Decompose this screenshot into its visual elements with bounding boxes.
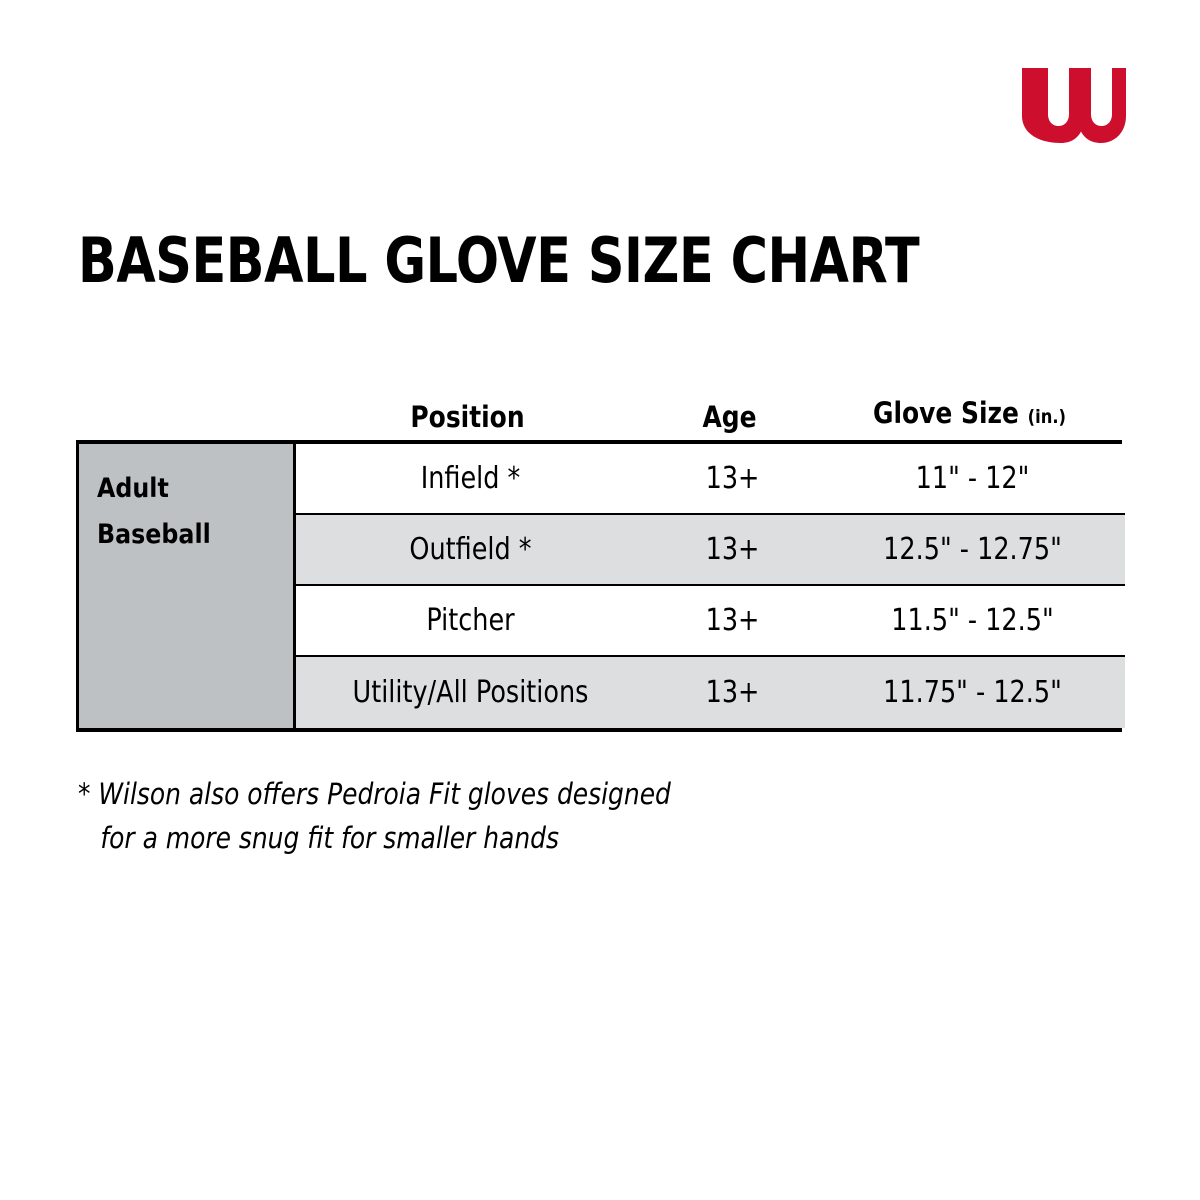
category-cell-adult-baseball: Adult Baseball xyxy=(79,444,296,728)
table-row: Infield * 13+ 11" - 12" xyxy=(296,444,1125,515)
wilson-logo xyxy=(1018,62,1130,146)
header-glove-size-text: Glove Size xyxy=(873,396,1019,430)
table-row: Utility/All Positions 13+ 11.75" - 12.5" xyxy=(296,657,1125,728)
cell-glove-size: 12.5" - 12.75" xyxy=(843,534,1102,566)
cell-age: 13+ xyxy=(658,534,807,566)
table-row: Pitcher 13+ 11.5" - 12.5" xyxy=(296,586,1125,657)
cell-position: Infield * xyxy=(322,463,619,495)
cell-glove-size: 11.75" - 12.5" xyxy=(843,677,1102,709)
size-table: Adult Baseball Infield * 13+ 11" - 12" O… xyxy=(76,440,1122,732)
category-label-line2: Baseball xyxy=(97,512,269,558)
header-glove-size: Glove Size (in.) xyxy=(838,398,1100,432)
page-title: BASEBALL GLOVE SIZE CHART xyxy=(78,228,919,294)
cell-position: Utility/All Positions xyxy=(322,677,619,709)
table-rows: Infield * 13+ 11" - 12" Outfield * 13+ 1… xyxy=(296,444,1125,728)
cell-age: 13+ xyxy=(658,677,807,709)
cell-glove-size: 11.5" - 12.5" xyxy=(843,605,1102,637)
table-row: Outfield * 13+ 12.5" - 12.75" xyxy=(296,515,1125,586)
header-glove-size-unit: (in.) xyxy=(1028,406,1066,428)
cell-age: 13+ xyxy=(658,463,807,495)
footnote-line2: for a more snug fit for smaller hands xyxy=(78,816,671,860)
cell-age: 13+ xyxy=(658,605,807,637)
footnote-line1: * Wilson also offers Pedroia Fit gloves … xyxy=(78,772,671,816)
wilson-w-logo-icon xyxy=(1018,62,1130,146)
footnote: * Wilson also offers Pedroia Fit gloves … xyxy=(78,772,671,860)
category-label-line1: Adult xyxy=(97,466,269,512)
header-age: Age xyxy=(654,402,805,432)
cell-position: Pitcher xyxy=(322,605,619,637)
table-column-headers: Position Age Glove Size (in.) xyxy=(76,388,1122,440)
cell-position: Outfield * xyxy=(322,534,619,566)
glove-size-chart: Position Age Glove Size (in.) Adult Base… xyxy=(76,388,1122,732)
cell-glove-size: 11" - 12" xyxy=(843,463,1102,495)
header-position: Position xyxy=(317,402,617,432)
